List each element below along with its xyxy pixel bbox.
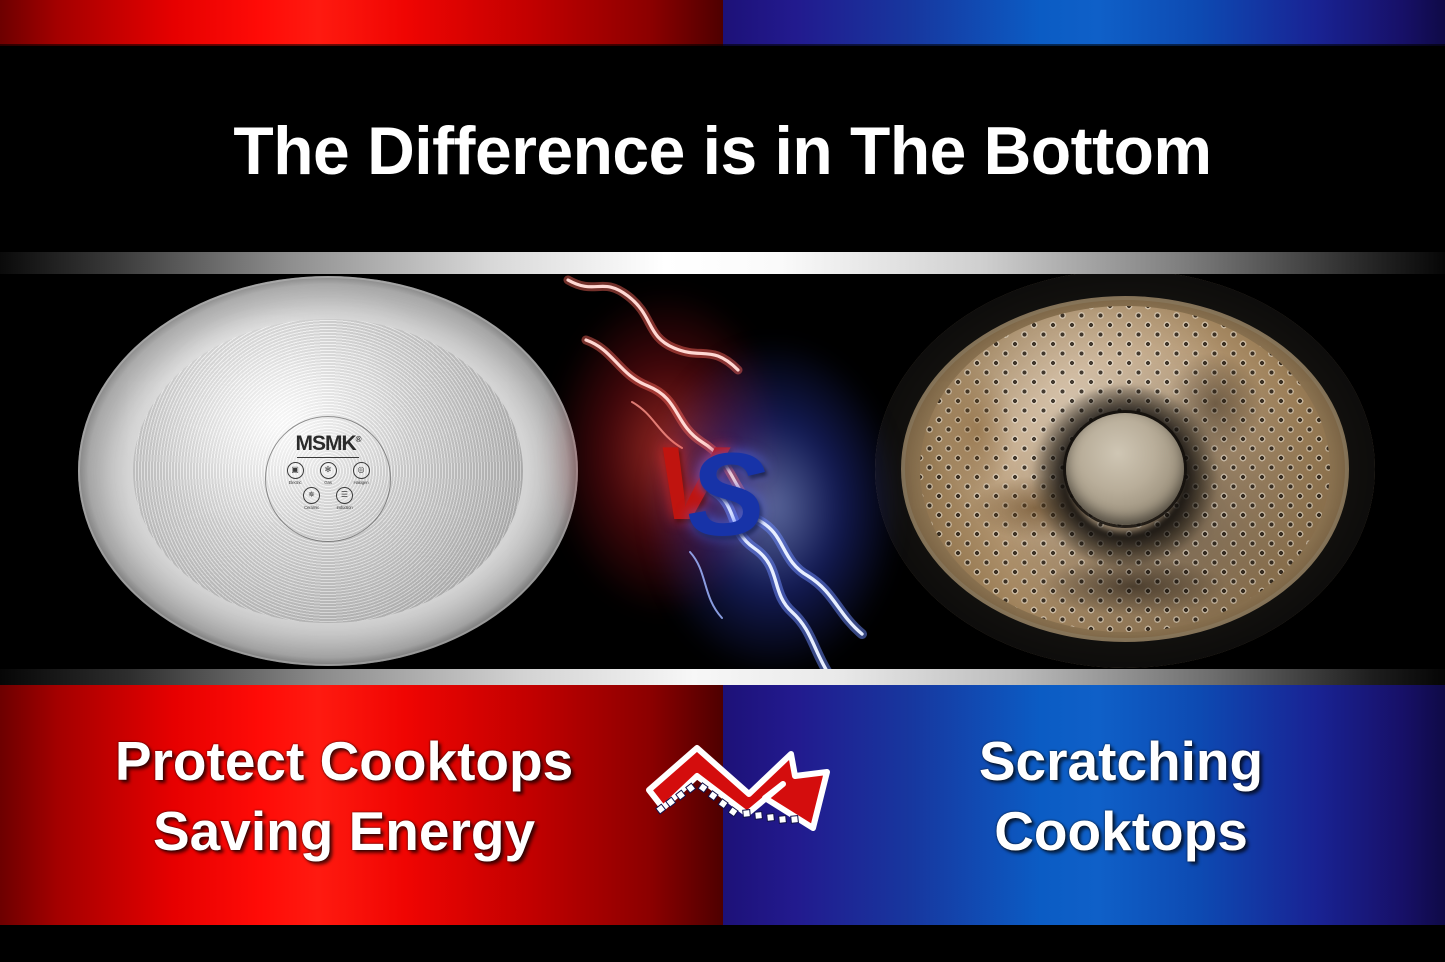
cooktop-compat-electric: ▣ Electric: [282, 462, 308, 485]
top-band-blue-half: [723, 0, 1445, 46]
induction-hob-icon: ☰: [336, 487, 353, 504]
good-caption-line-1: Protect Cooktops: [34, 726, 654, 796]
top-color-band: [0, 0, 1445, 46]
panel-bottom-metal-edge: [0, 669, 1445, 685]
good-pan-caption: Protect Cooktops Saving Energy: [34, 726, 654, 867]
bad-pan-caption: Scratching Cooktops: [841, 726, 1401, 867]
comparison-photo-panel: MSMK® ▣ Electric ✻ Gas ◎ Halogen: [0, 252, 1445, 685]
cooktop-compat-ceramic: ✵ Ceramic: [299, 487, 325, 510]
cooktop-compat-gas: ✻ Gas: [315, 462, 341, 485]
versus-zone: VS: [562, 252, 882, 685]
induction-hob-label: Induction: [336, 505, 352, 510]
red-lightning-icon: [562, 252, 882, 685]
gas-hob-label: Gas: [324, 480, 331, 485]
gas-hob-icon: ✻: [320, 462, 337, 479]
red-energy-glow: [552, 292, 782, 612]
bad-caption-line-2: Cooktops: [841, 796, 1401, 866]
blue-lightning-icon: [562, 252, 882, 685]
ceramic-hob-label: Ceramic: [304, 505, 319, 510]
arrow-body: [649, 748, 827, 828]
footer-black-bar: [0, 925, 1445, 962]
panel-top-metal-edge: [0, 252, 1445, 274]
good-pan-stainless-base: MSMK® ▣ Electric ✻ Gas ◎ Halogen: [78, 276, 578, 666]
brand-name: MSMK: [295, 432, 355, 455]
ceramic-hob-icon: ✵: [303, 487, 320, 504]
emblem-divider: [297, 457, 359, 458]
bad-pan-burnt-base: [875, 270, 1375, 668]
zigzag-arrow-right: [645, 732, 835, 840]
cooktop-icon-row-top: ▣ Electric ✻ Gas ◎ Halogen: [282, 462, 374, 485]
versus-label: VS: [648, 420, 796, 538]
top-band-red-half: [0, 0, 723, 46]
cooktop-compat-induction: ☰ Induction: [332, 487, 358, 510]
halogen-hob-label: Halogen: [354, 480, 369, 485]
versus-s-letter: S: [687, 429, 766, 561]
brand-logo-text: MSMK®: [295, 433, 360, 454]
page-title: The Difference is in The Bottom: [22, 112, 1424, 190]
versus-v-letter: V: [654, 426, 723, 542]
cooktop-icon-row-bottom: ✵ Ceramic ☰ Induction: [299, 487, 358, 510]
bad-caption-line-1: Scratching: [841, 726, 1401, 796]
electric-hob-label: Electric: [289, 480, 302, 485]
msmk-emblem: MSMK® ▣ Electric ✻ Gas ◎ Halogen: [265, 416, 391, 542]
bad-pan-outer-rim: [875, 270, 1375, 668]
blue-energy-glow: [648, 342, 898, 672]
product-comparison-poster: The Difference is in The Bottom MSMK® ▣ …: [0, 0, 1445, 962]
registered-trademark-icon: ®: [356, 435, 361, 444]
good-caption-line-2: Saving Energy: [34, 796, 654, 866]
cooktop-compat-halogen: ◎ Halogen: [348, 462, 374, 485]
electric-hob-icon: ▣: [287, 462, 304, 479]
halogen-hob-icon: ◎: [353, 462, 370, 479]
